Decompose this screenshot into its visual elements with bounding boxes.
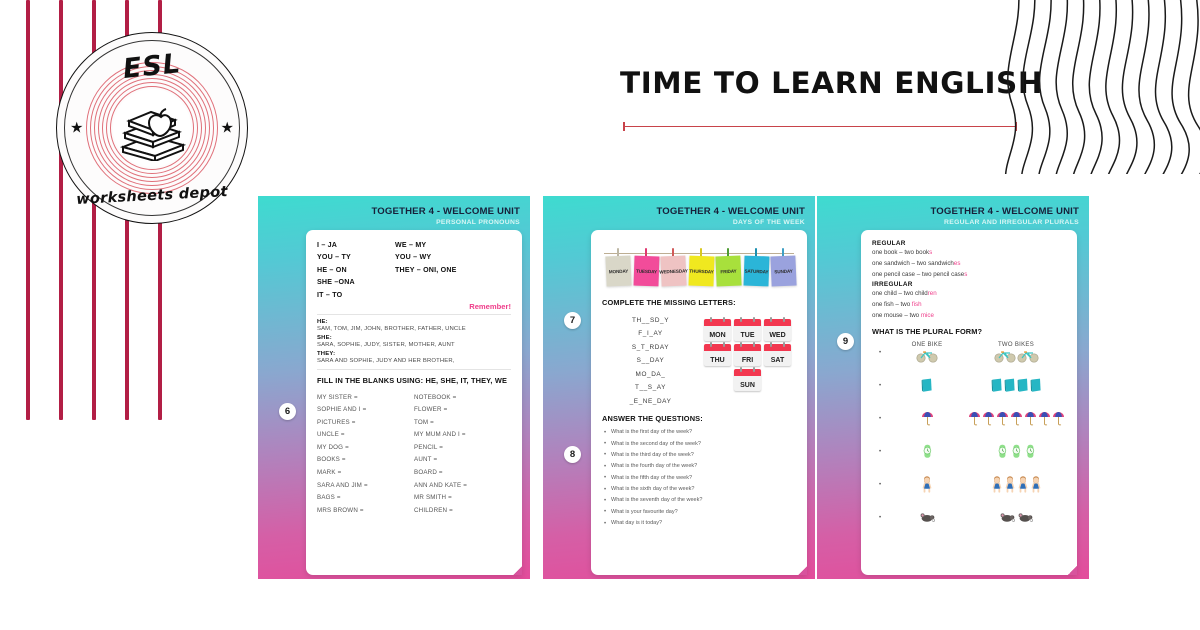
plural-label: TWO BIKES (998, 342, 1034, 348)
bicycle-icon (994, 349, 1039, 363)
umbrella-icon (968, 411, 1065, 426)
blank-column-right: NOTEBOOK =FLOWER =TOM =MY MUM AND I =PEN… (414, 392, 511, 518)
question-item: What is the seventh day of the week? (602, 495, 796, 506)
pronoun-item: I – JA (317, 239, 395, 251)
question-item: What is your favourite day? (602, 507, 796, 518)
star-icon: ★ (221, 121, 234, 136)
calendar-icon: SAT (764, 344, 791, 366)
plural-example: one book – two books (872, 247, 1066, 258)
plural-cell (966, 512, 1066, 523)
missing-letters-row[interactable]: S__DAY (602, 354, 699, 367)
blank-item[interactable]: BOARD = (414, 467, 511, 480)
calendar-icon: WED (764, 319, 791, 341)
plural-cell (966, 476, 1066, 493)
irregular-label: IRREGULAR (872, 281, 1066, 288)
poster-canvas: ESL ★ ★ worksheets depot TIME TO LEARN E… (0, 0, 1200, 630)
day-tag: SUNDAY (770, 255, 796, 286)
blank-item[interactable]: SARA AND JIM = (317, 480, 414, 493)
card-subtitle: DAYS OF THE WEEK (656, 219, 805, 226)
worksheet-page[interactable]: REGULAR one book – two booksone sandwich… (861, 230, 1077, 575)
mouse-icon (999, 512, 1034, 523)
irregular-examples: one child – two childrenone fish – two f… (872, 288, 1066, 321)
watch-icon (996, 444, 1037, 459)
blank-item[interactable]: CHILDREN = (414, 505, 511, 518)
child-icon (921, 476, 933, 493)
pronoun-column-right: WE – MY YOU – WY THEY – ONI, ONE (395, 239, 457, 301)
pronoun-item: HE – ON (317, 264, 395, 276)
plural-row: • (872, 369, 1066, 402)
question-item: What is the sixth day of the week? (602, 484, 796, 495)
missing-letters-row[interactable]: T__S_AY (602, 381, 699, 394)
blank-item[interactable]: MY MUM AND I = (414, 429, 511, 442)
day-tag: WEDNESDAY (660, 255, 686, 286)
card-title: TOGETHER 4 - WELCOME UNIT (930, 206, 1079, 217)
group-key: HE: (317, 319, 511, 325)
plural-row: • (872, 402, 1066, 435)
group-key: THEY: (317, 351, 511, 357)
pronoun-column-left: I – JA YOU – TY HE – ON SHE –ONA IT – TO (317, 239, 395, 301)
calendar-icon: THU (704, 344, 731, 366)
regular-examples: one book – two booksone sandwich – two s… (872, 247, 1066, 280)
umbrella-icon (921, 411, 934, 426)
missing-letters-row[interactable]: S_T_RDAY (602, 341, 699, 354)
letters-exercise-title: COMPLETE THE MISSING LETTERS: (602, 298, 796, 307)
wave-decoration (990, 0, 1200, 174)
books-with-apple-icon (115, 103, 189, 161)
worksheet-card-plurals[interactable]: TOGETHER 4 - WELCOME UNIT REGULAR AND IR… (817, 196, 1089, 579)
day-tag: SATURDAY (743, 256, 769, 287)
blank-item[interactable]: MARK = (317, 467, 414, 480)
card-subtitle: PERSONAL PRONOUNS (371, 219, 520, 226)
exercise-number-badge: 9 (837, 333, 854, 350)
bullet: • (872, 383, 888, 389)
missing-letters-list: TH__SD_YF_I_AYS_T_RDAYS__DAYMO_DA_T__S_A… (602, 311, 699, 408)
exercise-number-badge: 7 (564, 312, 581, 329)
blank-item[interactable]: MRS BROWN = (317, 505, 414, 518)
question-item: What is the fourth day of the week? (602, 461, 796, 472)
plural-row: • (872, 468, 1066, 501)
calendar-icon: FRI (734, 344, 761, 366)
remember-label: Remember! (317, 302, 511, 311)
missing-letters-row[interactable]: _E_NE_DAY (602, 395, 699, 408)
singular-cell (888, 444, 966, 459)
plural-row: • (872, 435, 1066, 468)
pronoun-item: YOU – TY (317, 251, 395, 263)
plural-cell (966, 444, 1066, 459)
question-item: What is the first day of the week? (602, 427, 796, 438)
blank-item[interactable]: BOOKS = (317, 454, 414, 467)
question-item: What day is it today? (602, 518, 796, 529)
worksheet-page[interactable]: MONDAYTUESDAYWEDNESDAYTHURSDAYFRIDAYSATU… (591, 230, 807, 575)
pronoun-group: THEY: SARA AND SOPHIE, JUDY AND HER BROT… (317, 351, 511, 364)
pronoun-group: SHE: SARA, SOPHIE, JUDY, SISTER, MOTHER,… (317, 335, 511, 348)
question-item: What is the fifth day of the week? (602, 473, 796, 484)
missing-letters-row[interactable]: F_I_AY (602, 327, 699, 340)
regular-label: REGULAR (872, 240, 1066, 247)
pronoun-table: I – JA YOU – TY HE – ON SHE –ONA IT – TO… (317, 239, 511, 301)
blank-item[interactable]: TOM = (414, 417, 511, 430)
page-title: TIME TO LEARN ENGLISH (620, 66, 1020, 100)
singular-cell (888, 512, 966, 523)
poster-title-block: TIME TO LEARN ENGLISH (620, 66, 1020, 131)
group-value: SARA AND SOPHIE, JUDY AND HER BROTHER, (317, 358, 511, 364)
plural-example: one child – two children (872, 288, 1066, 299)
bullet: • (872, 449, 888, 455)
plural-cell: TWO BIKES (966, 342, 1066, 363)
blank-item[interactable]: ANN AND KATE = (414, 480, 511, 493)
exercise-title: FILL IN THE BLANKS USING: HE, SHE, IT, T… (317, 376, 511, 385)
card-title: TOGETHER 4 - WELCOME UNIT (371, 206, 520, 217)
plural-row: •ONE BIKETWO BIKES (872, 336, 1066, 369)
child-icon (991, 476, 1042, 493)
group-value: SAM, TOM, JIM, JOHN, BROTHER, FATHER, UN… (317, 326, 511, 332)
bullet: • (872, 416, 888, 422)
watch-icon (921, 444, 934, 459)
calendar-icon: MON (704, 319, 731, 341)
page-curl (1068, 566, 1077, 575)
plural-cell (966, 411, 1066, 426)
mouse-icon (919, 512, 936, 523)
singular-label: ONE BIKE (912, 342, 943, 348)
questions-title: ANSWER THE QUESTIONS: (602, 414, 796, 423)
card-header: TOGETHER 4 - WELCOME UNIT REGULAR AND IR… (930, 206, 1079, 226)
plural-exercise-title: WHAT IS THE PLURAL FORM? (872, 327, 1066, 336)
book-icon (921, 378, 933, 393)
pronoun-group: HE: SAM, TOM, JIM, JOHN, BROTHER, FATHER… (317, 319, 511, 332)
pronoun-item: THEY – ONI, ONE (395, 264, 457, 276)
blank-item[interactable]: FLOWER = (414, 404, 511, 417)
bullet: • (872, 350, 888, 356)
worksheet-page[interactable]: I – JA YOU – TY HE – ON SHE –ONA IT – TO… (306, 230, 522, 575)
blank-item[interactable]: MY SISTER = (317, 392, 414, 405)
card-header: TOGETHER 4 - WELCOME UNIT PERSONAL PRONO… (371, 206, 520, 226)
card-subtitle: REGULAR AND IRREGULAR PLURALS (930, 219, 1079, 226)
plural-example: one fish – two fish (872, 299, 1066, 310)
pronoun-item: YOU – WY (395, 251, 457, 263)
divider (317, 369, 511, 370)
singular-cell (888, 411, 966, 426)
bullet: • (872, 482, 888, 488)
missing-letters-row[interactable]: TH__SD_Y (602, 314, 699, 327)
title-underline (620, 122, 1020, 131)
blank-item[interactable]: NOTEBOOK = (414, 392, 511, 405)
missing-letters-row[interactable]: MO_DA_ (602, 368, 699, 381)
blank-item[interactable]: UNCLE = (317, 429, 414, 442)
blank-item[interactable]: AUNT = (414, 454, 511, 467)
bicycle-icon (916, 349, 938, 363)
exercise-number-badge: 8 (564, 446, 581, 463)
page-curl (513, 566, 522, 575)
blank-item[interactable]: MR SMITH = (414, 492, 511, 505)
plural-row: • (872, 501, 1066, 534)
blank-column-left: MY SISTER =SOPHIE AND I =PICTURES =UNCLE… (317, 392, 414, 518)
letters-and-calendars: TH__SD_YF_I_AYS_T_RDAYS__DAYMO_DA_T__S_A… (602, 311, 796, 408)
calendar-icon: TUE (734, 319, 761, 341)
pronoun-item: SHE –ONA (317, 276, 395, 288)
plural-example: one sandwich – two sandwiches (872, 258, 1066, 269)
day-tag: FRIDAY (715, 255, 741, 286)
singular-cell (888, 476, 966, 493)
question-item: What is the third day of the week? (602, 450, 796, 461)
plural-example: one mouse – two mice (872, 310, 1066, 321)
singular-cell (888, 378, 966, 393)
blank-item[interactable]: PICTURES = (317, 417, 414, 430)
exercise-number-badge: 6 (279, 403, 296, 420)
worksheet-cards: TOGETHER 4 - WELCOME UNIT PERSONAL PRONO… (0, 196, 1200, 580)
book-icon (991, 378, 1042, 393)
calendar-icons: MONTUEWEDTHUFRISATSUN (699, 311, 796, 408)
bullet: • (872, 515, 888, 521)
singular-cell: ONE BIKE (888, 342, 966, 363)
pronoun-item: IT – TO (317, 289, 395, 301)
divider (317, 314, 511, 315)
group-key: SHE: (317, 335, 511, 341)
card-header: TOGETHER 4 - WELCOME UNIT DAYS OF THE WE… (656, 206, 805, 226)
card-title: TOGETHER 4 - WELCOME UNIT (656, 206, 805, 217)
blank-item[interactable]: PENCIL = (414, 442, 511, 455)
star-icon: ★ (70, 121, 83, 136)
blank-item[interactable]: BAGS = (317, 492, 414, 505)
calendar-icon: SUN (734, 369, 761, 391)
questions-list: What is the first day of the week?What i… (602, 427, 796, 529)
plural-rows: •ONE BIKETWO BIKES••••• (872, 336, 1066, 534)
question-item: What is the second day of the week? (602, 439, 796, 450)
day-tag: TUESDAY (633, 256, 659, 287)
fill-blanks-list: MY SISTER =SOPHIE AND I =PICTURES =UNCLE… (317, 392, 511, 518)
clothesline-days: MONDAYTUESDAYWEDNESDAYTHURSDAYFRIDAYSATU… (602, 244, 796, 294)
day-tag: MONDAY (605, 255, 631, 286)
page-curl (798, 566, 807, 575)
blank-item[interactable]: SOPHIE AND I = (317, 404, 414, 417)
pronoun-item: WE – MY (395, 239, 457, 251)
plural-example: one pencil case – two pencil cases (872, 269, 1066, 280)
day-tag: THURSDAY (688, 256, 714, 287)
worksheet-card-days-of-week[interactable]: TOGETHER 4 - WELCOME UNIT DAYS OF THE WE… (543, 196, 815, 579)
plural-cell (966, 378, 1066, 393)
blank-item[interactable]: MY DOG = (317, 442, 414, 455)
group-value: SARA, SOPHIE, JUDY, SISTER, MOTHER, AUNT (317, 342, 511, 348)
worksheet-card-personal-pronouns[interactable]: TOGETHER 4 - WELCOME UNIT PERSONAL PRONO… (258, 196, 530, 579)
